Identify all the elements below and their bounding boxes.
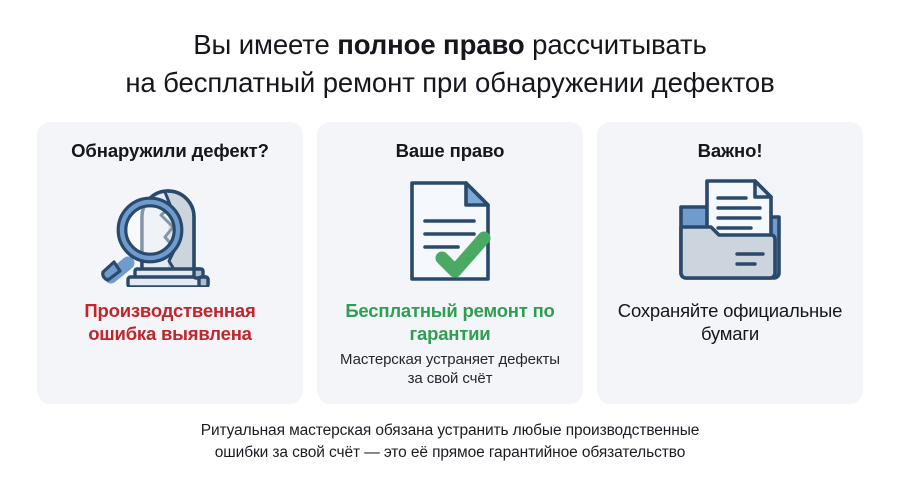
footer-line-2: ошибки за свой счёт — это её прямое гара… — [66, 442, 834, 464]
footer-line-1: Ритуальная мастерская обязана устранить … — [66, 420, 834, 442]
cards-row: Обнаружили дефект? — [36, 122, 864, 404]
document-check-icon — [398, 172, 502, 290]
card-lead-text: Производственная ошибка выявлена — [51, 300, 289, 345]
card-body: Бесплатный ремонт по гарантии Мастерская… — [331, 300, 569, 389]
page-title-line-1: Вы имеете полное право рассчитывать — [40, 26, 860, 64]
card-title: Ваше право — [396, 140, 505, 162]
card-keep-documents: Важно! — [597, 122, 863, 404]
page-title-line-2: на бесплатный ремонт при обнаружении деф… — [40, 64, 860, 102]
page-title-line-1-pre: Вы имеете — [193, 29, 337, 60]
card-title: Обнаружили дефект? — [71, 140, 269, 162]
infographic-page: Вы имеете полное право рассчитывать на б… — [0, 0, 900, 502]
magnifier-cracked-monument-icon — [95, 172, 245, 290]
page-title: Вы имеете полное право рассчитывать на б… — [36, 26, 864, 102]
card-sub-text: Мастерская устраняет дефекты за свой счё… — [331, 351, 569, 389]
card-body: Сохраняйте официальные бумаги — [611, 300, 849, 345]
page-title-accent: полное право — [337, 29, 524, 60]
card-title: Важно! — [698, 140, 763, 162]
card-lead-text: Сохраняйте официальные бумаги — [611, 300, 849, 345]
card-body: Производственная ошибка выявлена — [51, 300, 289, 345]
page-title-line-1-post: рассчитывать — [525, 29, 707, 60]
footer-note: Ритуальная мастерская обязана устранить … — [36, 420, 864, 464]
card-your-right: Ваше право Бесплатный ре — [317, 122, 583, 404]
card-defect-found: Обнаружили дефект? — [37, 122, 303, 404]
card-lead-text: Бесплатный ремонт по гарантии — [331, 300, 569, 345]
folder-document-icon — [671, 172, 789, 290]
